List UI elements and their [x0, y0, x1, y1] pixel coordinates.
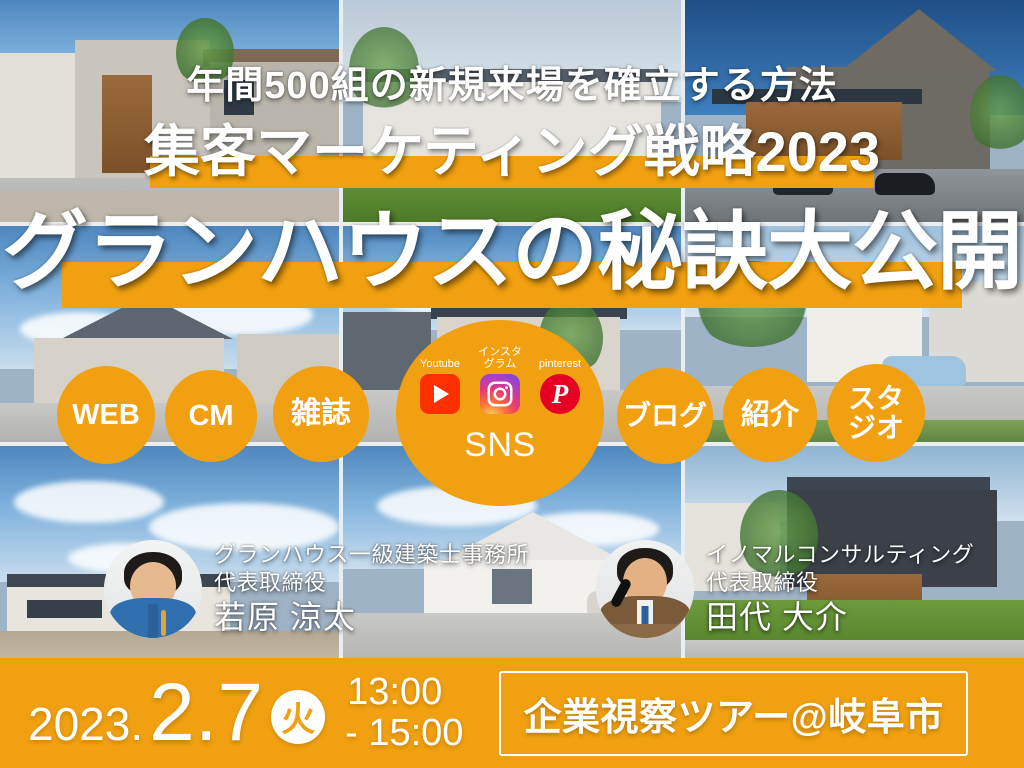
event-date: 2.7	[149, 674, 263, 752]
photo-tile-7	[0, 446, 339, 666]
photo-tile-3	[685, 0, 1024, 222]
event-day-of-week-badge: 火	[271, 690, 325, 744]
event-time-start: 13:00	[347, 672, 463, 713]
photo-tile-9	[685, 446, 1024, 666]
poster-canvas: 年間500組の新規来場を確立する方法 集客マーケティング戦略2023 グランハウ…	[0, 0, 1024, 768]
event-tour-label: 企業視察ツアー@岐阜市	[499, 671, 967, 756]
event-time-end: - 15:00	[345, 713, 463, 754]
photo-tile-2	[343, 0, 682, 222]
event-time-block: 13:00 - 15:00	[347, 672, 463, 754]
event-date-block: 2023. 2.7 火	[28, 674, 325, 752]
event-banner: 2023. 2.7 火 13:00 - 15:00 企業視察ツアー@岐阜市	[0, 658, 1024, 768]
photo-grid	[0, 0, 1024, 658]
event-year: 2023.	[28, 697, 143, 751]
photo-tile-8	[343, 446, 682, 666]
photo-tile-4	[0, 226, 339, 442]
photo-tile-1	[0, 0, 339, 222]
photo-tile-5	[343, 226, 682, 442]
photo-tile-6	[685, 226, 1024, 442]
